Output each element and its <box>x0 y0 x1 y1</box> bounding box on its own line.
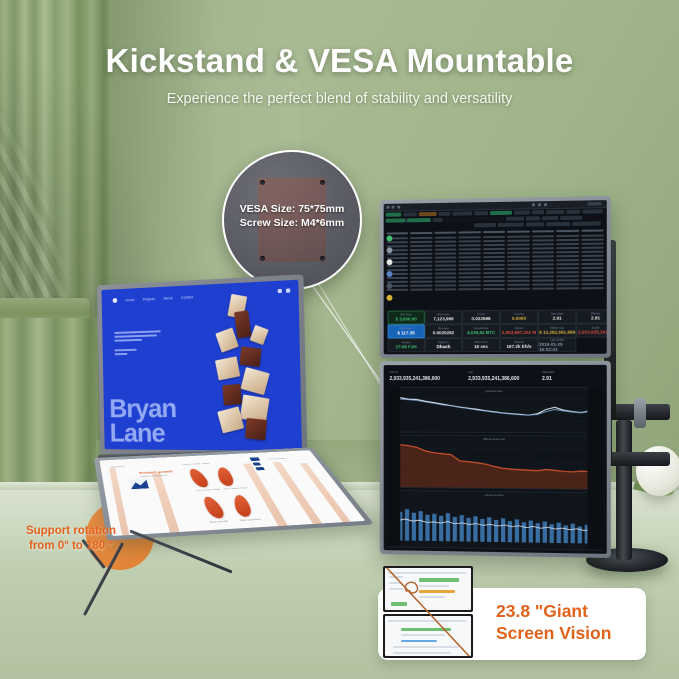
volume-bar-chart[interactable]: volume-bar-chart <box>387 490 604 551</box>
stat-value: 0.022598 <box>472 316 491 321</box>
stat-value: 2,963,987,152 M <box>502 330 537 335</box>
chart-header-label: Cap <box>468 371 473 374</box>
vesa-screw-hole <box>320 180 325 185</box>
stat-value: 4,026,62 BTC <box>467 330 495 335</box>
terminal-table-body[interactable] <box>387 229 604 290</box>
price-chart-svg <box>388 388 603 433</box>
site-nav[interactable]: Home Projects About Contact <box>113 294 193 303</box>
rotation-line-2: from 0° to 180 ° <box>6 539 136 554</box>
stat-tile[interactable]: Last Update2019-01-25 16:02:43 <box>538 338 576 352</box>
stat-value: 0.0025262 <box>433 330 454 335</box>
stat-tile[interactable]: Market Cap$ 12,262,561,669 <box>538 324 576 338</box>
difficulty-chart-svg <box>388 435 603 489</box>
stat-tile[interactable]: AlgorithmDhash <box>425 338 462 352</box>
screen-size-line-2: Screen Vision <box>496 622 641 644</box>
screw-size-label: Screw Size: M4*6mm <box>224 216 360 230</box>
coin-icon <box>387 259 393 265</box>
stat-tile[interactable]: Tx Fee0.022598 <box>462 310 500 324</box>
stat-tile[interactable]: Difficulty2.91 <box>576 309 606 323</box>
chart-header-label: 24h Vol <box>390 371 398 374</box>
monitor-bottom-panel: 24h Vol2,933,935,241,386,600Cap2,933,935… <box>380 361 611 558</box>
hero-artwork <box>196 292 300 448</box>
monitor-arm-knuckle <box>634 398 646 428</box>
stat-tile[interactable]: Block Time16 sec <box>462 338 500 352</box>
stat-value: 2,933,935,241.M <box>578 329 607 334</box>
vesa-screw-hole <box>320 256 325 261</box>
stat-value: 0.0000 <box>512 316 526 321</box>
price-chart-title: price-line-chart <box>485 390 502 393</box>
stat-value: $ 117.35 <box>397 330 414 335</box>
terminal-filters[interactable] <box>474 221 605 227</box>
laptop-top-lid: Home Projects About Contact <box>97 274 307 456</box>
chart-icon <box>128 479 150 490</box>
screen-portfolio-site[interactable]: Home Projects About Contact <box>102 280 302 451</box>
coin-icon <box>387 295 393 301</box>
difficulty-area-chart[interactable]: difficulty-area-chart <box>387 434 604 490</box>
chart-header-value: 2,933,935,241,386,600 <box>390 376 440 382</box>
vesa-callout: VESA Size: 75*75mm Screw Size: M4*6mm <box>222 150 362 290</box>
stat-tile[interactable]: Block Size7,123,999 <box>425 310 462 324</box>
screen-infographic[interactable]: Product growth Higher engagement Trend i… <box>99 450 365 536</box>
stat-tile[interactable]: Mempool0.0025262 <box>425 324 462 338</box>
coin-icon <box>387 247 393 253</box>
hero-line-2: Lane <box>110 421 177 446</box>
stat-tile[interactable]: Volume2,963,987,152 M <box>500 324 538 338</box>
dual-monitor-vesa: BTC Price$ 3,600.00Block Size7,123,999Tx… <box>380 196 614 560</box>
screen-market-charts[interactable]: 24h Vol2,933,935,241,386,600Cap2,933,935… <box>384 365 607 554</box>
dual-screen-laptop: Home Projects About Contact <box>86 280 321 610</box>
stat-value: 7,123,999 <box>433 316 453 321</box>
stat-value: $ 3,600.00 <box>396 316 417 321</box>
stat-tile[interactable]: Reward27.68 FJH <box>388 338 425 352</box>
stat-tile[interactable]: Supply2,933,935,241.M <box>576 323 606 337</box>
difficulty-chart-title: difficulty-area-chart <box>483 438 505 441</box>
rotation-line-1: Support rotation <box>6 524 136 539</box>
chart-header-value: 2.91 <box>542 376 552 382</box>
stat-tile[interactable]: Avg Fee0.0000 <box>500 310 538 324</box>
coin-icon <box>387 283 393 289</box>
vesa-screw-hole <box>260 256 265 261</box>
monitor-arm-post <box>616 420 632 560</box>
coin-icon <box>387 271 393 277</box>
nav-item[interactable]: Contact <box>181 295 193 300</box>
stat-tile[interactable]: Hash Rate2.91 <box>538 309 576 323</box>
stat-value: Dhash <box>437 344 451 349</box>
vesa-screw-hole <box>260 180 265 185</box>
chart-header-label: Hash Rate <box>542 371 554 374</box>
charts-left-axis <box>387 387 401 547</box>
site-logo-icon <box>113 298 118 303</box>
stat-value: 2.91 <box>553 316 562 321</box>
vesa-callout-text: VESA Size: 75*75mm Screw Size: M4*6mm <box>224 202 360 230</box>
stat-value: 27.68 FJH <box>396 344 417 349</box>
page-title: Kickstand & VESA Mountable <box>0 42 679 80</box>
volume-chart-svg <box>388 491 603 550</box>
stat-value: 2.91 <box>591 315 600 320</box>
stat-value: 2019-01-25 16:02:43 <box>539 341 575 351</box>
charts-right-panel <box>587 387 603 550</box>
site-tagline <box>114 330 163 357</box>
vesa-size-label: VESA Size: 75*75mm <box>224 202 360 216</box>
chart-header-value: 2,933,935,241,386,600 <box>468 376 519 382</box>
screen-size-line-1: 23.8 "Giant <box>496 600 641 622</box>
stat-value: $ 12,262,561,669 <box>539 330 575 335</box>
stat-value: 167.2k Eh/s <box>506 344 531 349</box>
volume-chart-title: volume-bar-chart <box>484 494 504 497</box>
stat-tile[interactable]: BTC Price$ 3,600.00 <box>388 310 425 324</box>
stat-value: 16 sec <box>474 344 488 349</box>
stat-tile[interactable]: Unconfirmed4,026,62 BTC <box>462 324 500 338</box>
price-line-chart[interactable]: price-line-chart <box>387 387 604 434</box>
nav-item[interactable]: Home <box>125 298 134 302</box>
coin-icon <box>387 235 393 241</box>
rotation-callout: Support rotation from 0° to 180 ° <box>6 524 136 554</box>
nav-item[interactable]: Projects <box>143 297 155 302</box>
screen-trading-terminal[interactable]: BTC Price$ 3,600.00Block Size7,123,999Tx… <box>384 200 607 354</box>
screen-size-text: 23.8 "Giant Screen Vision <box>496 600 641 644</box>
page-subtitle: Experience the perfect blend of stabilit… <box>0 91 679 107</box>
nav-item[interactable]: About <box>163 296 172 300</box>
product-marketing-image: Kickstand & VESA Mountable Experience th… <box>0 0 679 679</box>
stat-tile[interactable]: ETH Price$ 117.35 <box>388 324 425 338</box>
dual-screen-thumbnail-icon <box>383 566 473 658</box>
site-hero-title: Bryan Lane <box>109 396 177 446</box>
monitor-top-panel: BTC Price$ 3,600.00Block Size7,123,999Tx… <box>380 196 611 358</box>
diagonal-measure-icon <box>383 566 473 658</box>
stat-tile[interactable]: Network167.2k Eh/s <box>500 338 538 352</box>
